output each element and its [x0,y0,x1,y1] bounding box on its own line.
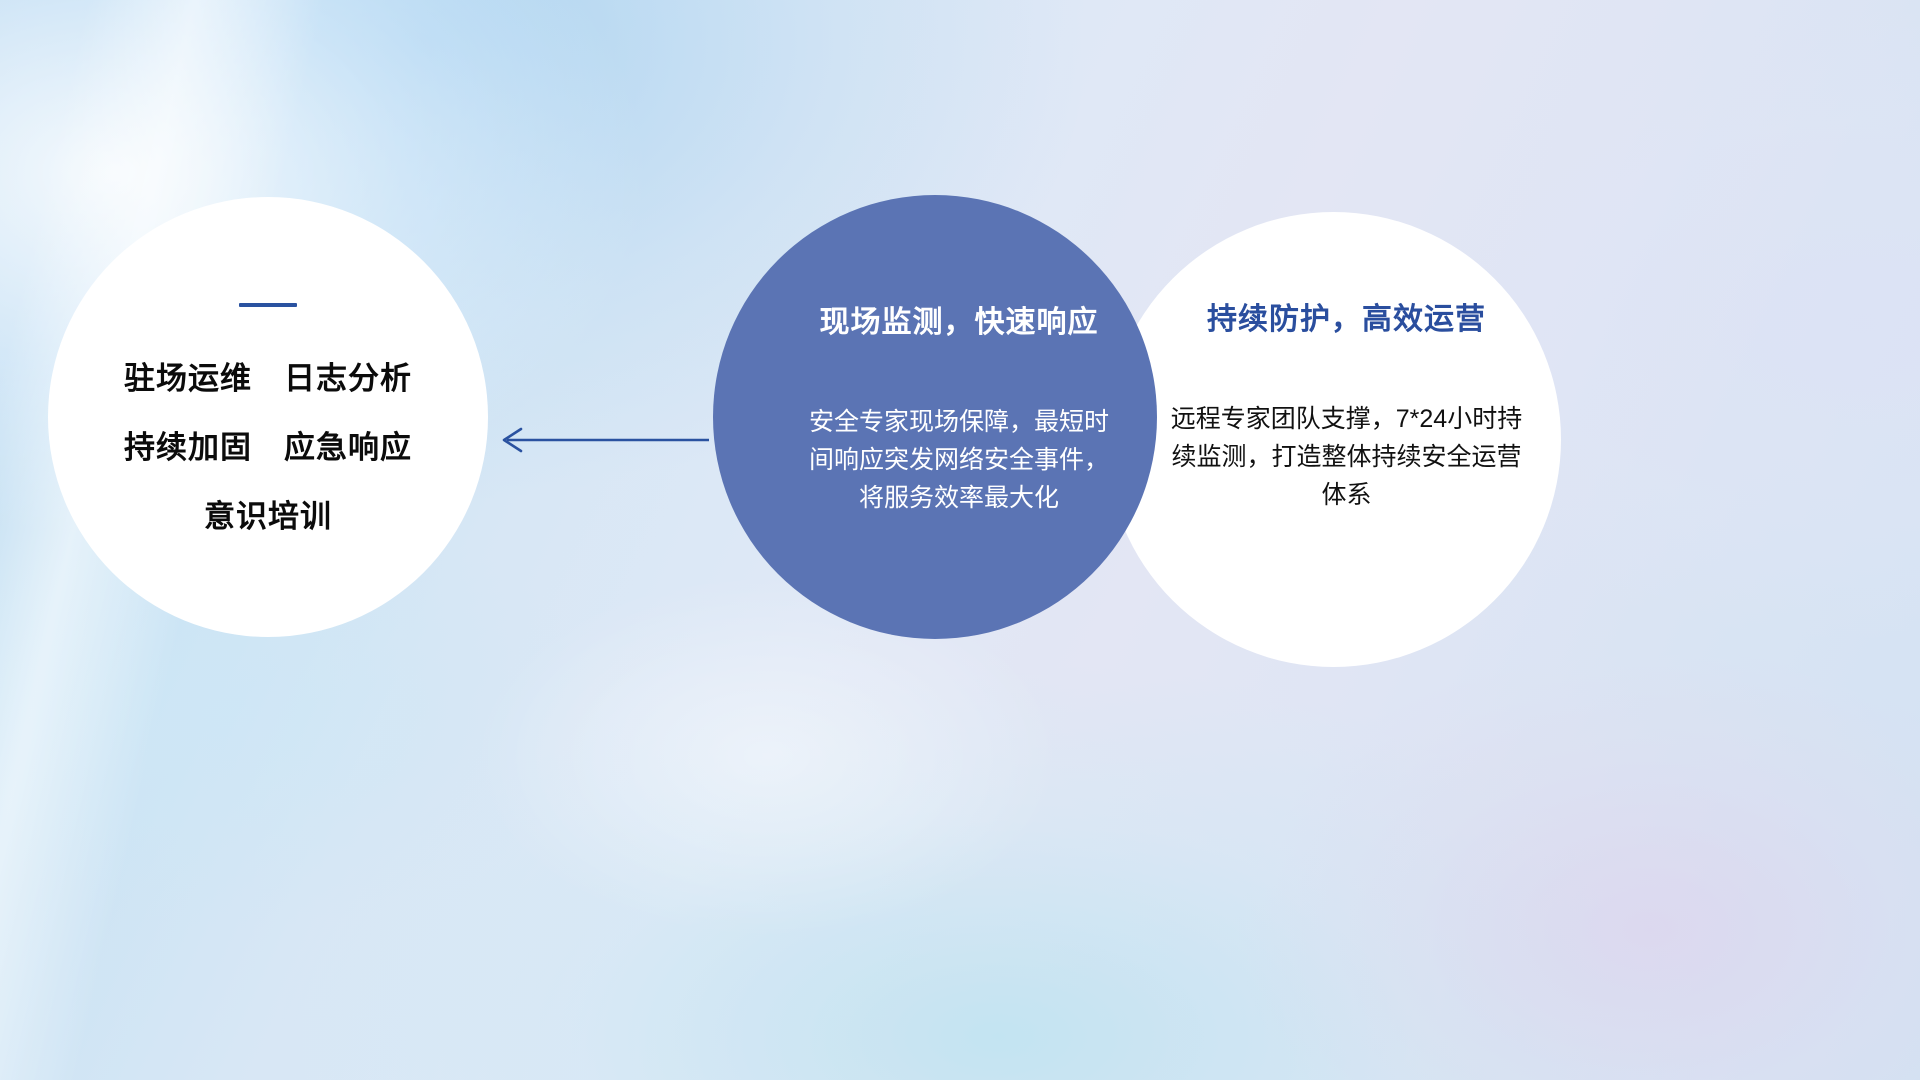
left-circle-line-1: 驻场运维 日志分析 [124,363,412,394]
right-circle-content: 持续防护，高效运营 远程专家团队支撑，7*24小时持续监测，打造整体持续安全运营… [1106,212,1561,667]
right-circle-title: 持续防护，高效运营 [1207,294,1486,338]
accent-dash-divider [239,303,297,307]
left-circle-content: 驻场运维 日志分析 持续加固 应急响应 意识培训 [48,197,488,637]
middle-circle-body: 安全专家现场保障，最短时间响应突发网络安全事件，将服务效率最大化 [809,403,1109,517]
left-circle-line-2: 持续加固 应急响应 [124,432,412,463]
connector-arrow-left-icon [495,416,710,464]
right-circle-body: 远程专家团队支撑，7*24小时持续监测，打造整体持续安全运营体系 [1167,400,1527,514]
middle-circle-content: 现场监测，快速响应 安全专家现场保障，最短时间响应突发网络安全事件，将服务效率最… [713,195,1157,639]
left-circle-line-3: 意识培训 [204,501,332,532]
slide-canvas: 驻场运维 日志分析 持续加固 应急响应 意识培训 现场监测，快速响应 安全专家现… [0,0,1920,1080]
middle-circle-title: 现场监测，快速响应 [820,297,1099,341]
